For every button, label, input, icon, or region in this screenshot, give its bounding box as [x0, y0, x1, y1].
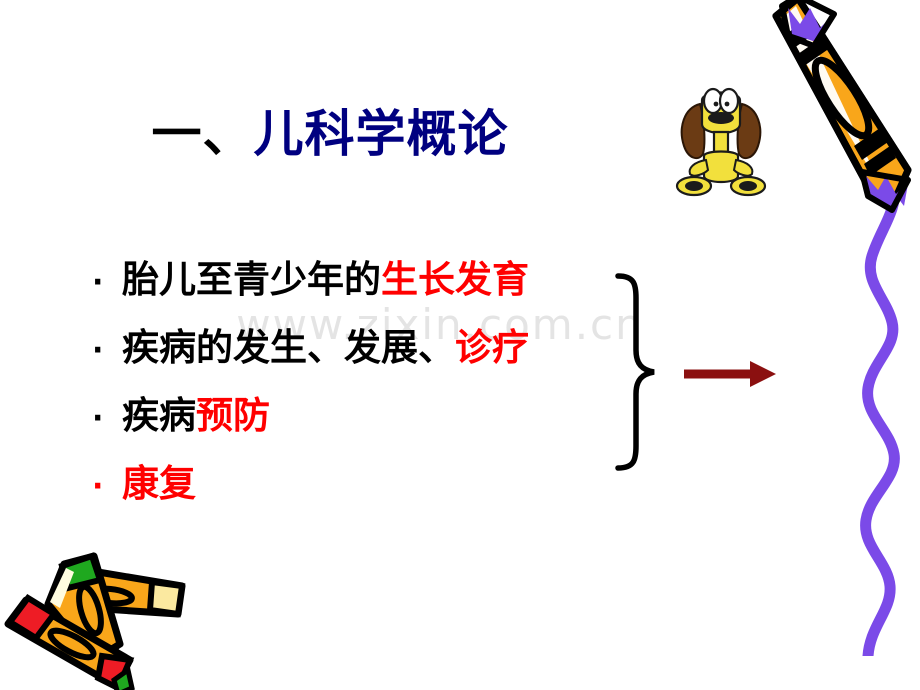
bullet-text-plain: 疾病的发生、发展、: [122, 314, 455, 382]
bullet-text-highlight: 康复: [122, 450, 196, 518]
bullet-list: · 胎儿至青少年的生长发育 · 疾病的发生、发展、诊疗 · 疾病预防 · 康复: [92, 246, 612, 518]
bullet-text-plain: 胎儿至青少年的: [122, 246, 381, 314]
list-item: · 康复: [92, 450, 612, 518]
title-main: 儿科学概论: [254, 105, 509, 163]
bullet-text-highlight: 诊疗: [455, 314, 529, 382]
bullet-marker-icon: ·: [92, 249, 122, 317]
bullet-marker-icon: ·: [92, 385, 122, 453]
title-number: 一、: [152, 105, 254, 163]
bullet-text-highlight: 生长发育: [381, 246, 529, 314]
bullet-text-highlight: 预防: [196, 382, 270, 450]
list-item: · 疾病预防: [92, 382, 612, 450]
list-item: · 胎儿至青少年的生长发育: [92, 246, 612, 314]
crayon-orange-icon: [758, 0, 920, 224]
right-arrow-icon: [680, 356, 780, 392]
bullet-marker-icon: ·: [92, 453, 122, 521]
slide-canvas: 一、儿科学概论 www.zixin.com.cn · 胎儿至青少年的生长发育 ·…: [0, 0, 920, 690]
bullet-text-plain: 疾病: [122, 382, 196, 450]
cartoon-dog-icon: [670, 84, 772, 202]
page-title: 一、儿科学概论: [0, 108, 660, 161]
purple-squiggle-line-icon: [842, 186, 920, 656]
crayon-group-icon: [2, 528, 192, 690]
bullet-marker-icon: ·: [92, 317, 122, 385]
curly-brace-icon: [612, 272, 668, 472]
list-item: · 疾病的发生、发展、诊疗: [92, 314, 612, 382]
